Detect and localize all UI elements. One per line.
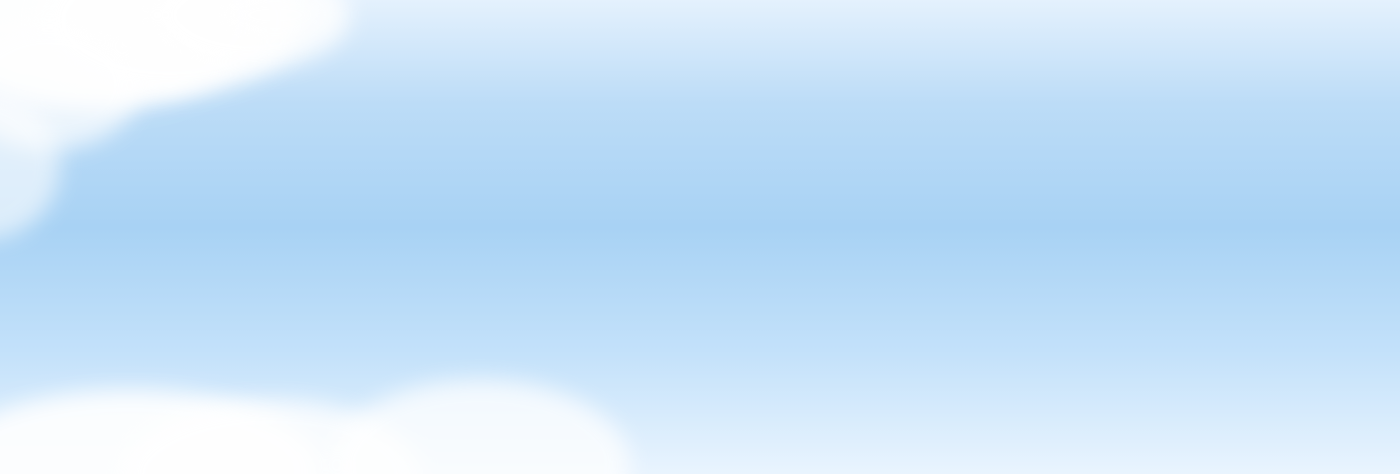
promo-banner: 洁尔爽 JASUN (0, 0, 1400, 474)
background-tower (0, 300, 60, 474)
